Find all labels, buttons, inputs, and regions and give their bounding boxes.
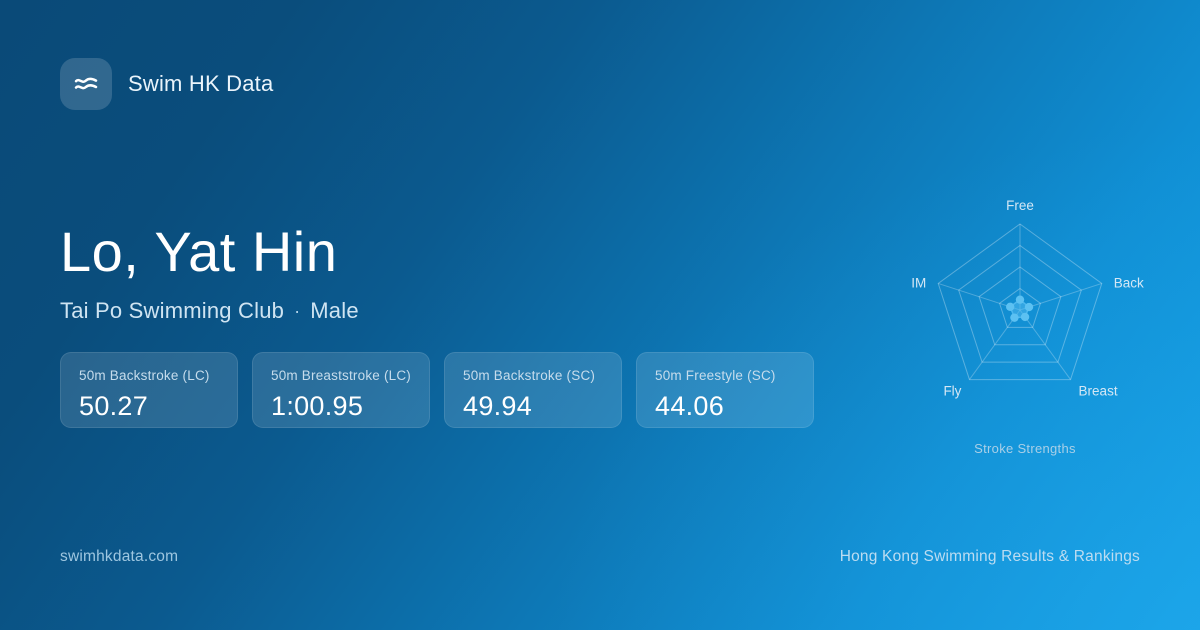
stat-card-label: 50m Breaststroke (LC) xyxy=(271,369,411,383)
stat-card-label: 50m Backstroke (LC) xyxy=(79,369,219,383)
stat-card: 50m Backstroke (SC) 49.94 xyxy=(444,352,622,428)
stat-card: 50m Freestyle (SC) 44.06 xyxy=(636,352,814,428)
athlete-meta: Tai Po Swimming Club · Male xyxy=(60,298,359,324)
radar-axis-label: Back xyxy=(1114,275,1144,290)
footer-tagline: Hong Kong Swimming Results & Rankings xyxy=(840,548,1140,566)
radar-data-point xyxy=(1010,313,1018,321)
stat-card-value: 49.94 xyxy=(463,393,603,420)
radar-data-point xyxy=(1021,313,1029,321)
radar-caption: Stroke Strengths xyxy=(880,441,1170,456)
radar-axis-label: Free xyxy=(1006,198,1034,213)
og-card-stage: Swim HK Data Lo, Yat Hin Tai Po Swimming… xyxy=(0,0,1200,630)
radar-data-point xyxy=(1025,303,1033,311)
meta-separator: · xyxy=(294,301,300,322)
stat-card: 50m Backstroke (LC) 50.27 xyxy=(60,352,238,428)
stat-card-label: 50m Freestyle (SC) xyxy=(655,369,795,383)
stat-card-value: 1:00.95 xyxy=(271,393,411,420)
radar-svg: FreeBackBreastFlyIM xyxy=(880,176,1170,426)
brand-name: Swim HK Data xyxy=(128,71,273,97)
stroke-strengths-radar-chart: FreeBackBreastFlyIM Stroke Strengths xyxy=(880,176,1170,466)
footer-site-url: swimhkdata.com xyxy=(60,548,178,566)
radar-axis-label: Breast xyxy=(1079,384,1118,399)
athlete-block: Lo, Yat Hin Tai Po Swimming Club · Male xyxy=(60,222,359,324)
radar-axis-label: IM xyxy=(911,275,926,290)
radar-data-point xyxy=(1006,303,1014,311)
brand-header: Swim HK Data xyxy=(60,58,273,110)
radar-axis-labels: FreeBackBreastFlyIM xyxy=(911,198,1144,399)
wave-approx-icon xyxy=(60,58,112,110)
stat-card-value: 44.06 xyxy=(655,393,795,420)
stat-card-label: 50m Backstroke (SC) xyxy=(463,369,603,383)
radar-axis-label: Fly xyxy=(943,384,961,399)
page-title: Lo, Yat Hin xyxy=(60,222,359,282)
athlete-club: Tai Po Swimming Club xyxy=(60,298,284,324)
stat-card-value: 50.27 xyxy=(79,393,219,420)
radar-data-point xyxy=(1016,295,1024,303)
stat-card-list: 50m Backstroke (LC) 50.27 50m Breaststro… xyxy=(60,352,814,428)
athlete-gender: Male xyxy=(310,298,359,324)
stat-card: 50m Breaststroke (LC) 1:00.95 xyxy=(252,352,430,428)
